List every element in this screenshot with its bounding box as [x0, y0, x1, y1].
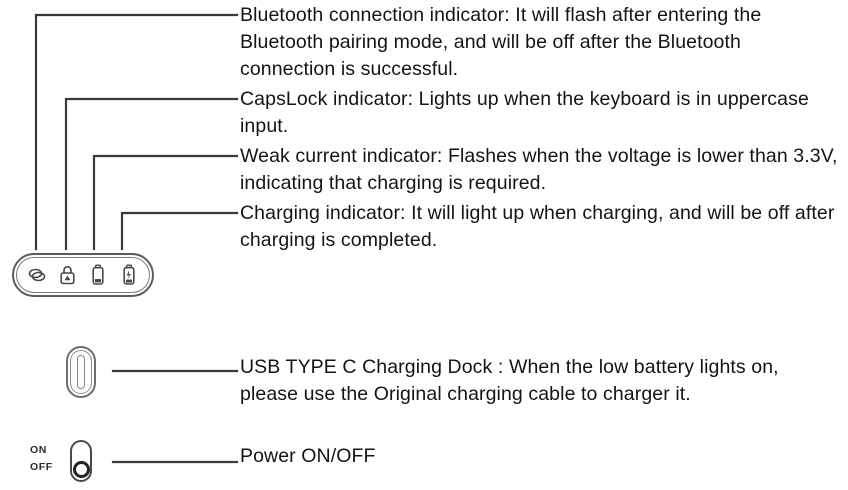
callout-text-weak-current: Weak current indicator: Flashes when the…	[240, 143, 840, 197]
power-toggle-switch-icon[interactable]: ON OFF	[30, 440, 100, 484]
usb-type-c-port-icon	[66, 346, 96, 398]
callout-text-power: Power ON/OFF	[240, 443, 840, 470]
leader-line-charging	[122, 213, 237, 249]
callout-text-usb-type-c: USB TYPE C Charging Dock : When the low …	[240, 354, 840, 408]
low-battery-icon	[87, 263, 109, 287]
power-switch-labels: ON OFF	[30, 442, 62, 476]
leader-line-weak-current	[94, 156, 237, 249]
callout-text-capslock: CapsLock indicator: Lights up when the k…	[240, 86, 840, 140]
diagram-page: Bluetooth connection indicator: It will …	[0, 0, 848, 490]
power-switch-off-label: OFF	[30, 459, 62, 476]
panel-icon-row	[12, 253, 154, 297]
power-switch-on-label: ON	[30, 442, 62, 459]
leader-line-capslock	[66, 99, 237, 249]
bluetooth-icon	[26, 263, 48, 287]
indicator-led-panel	[12, 253, 154, 297]
power-switch-knob[interactable]	[73, 461, 90, 478]
leader-line-bluetooth	[36, 15, 237, 249]
usb-port-slot	[77, 355, 85, 389]
capslock-lock-icon	[57, 263, 79, 287]
charging-battery-icon	[118, 263, 140, 287]
callout-text-charging: Charging indicator: It will light up whe…	[240, 200, 840, 254]
callout-text-bluetooth: Bluetooth connection indicator: It will …	[240, 2, 840, 83]
